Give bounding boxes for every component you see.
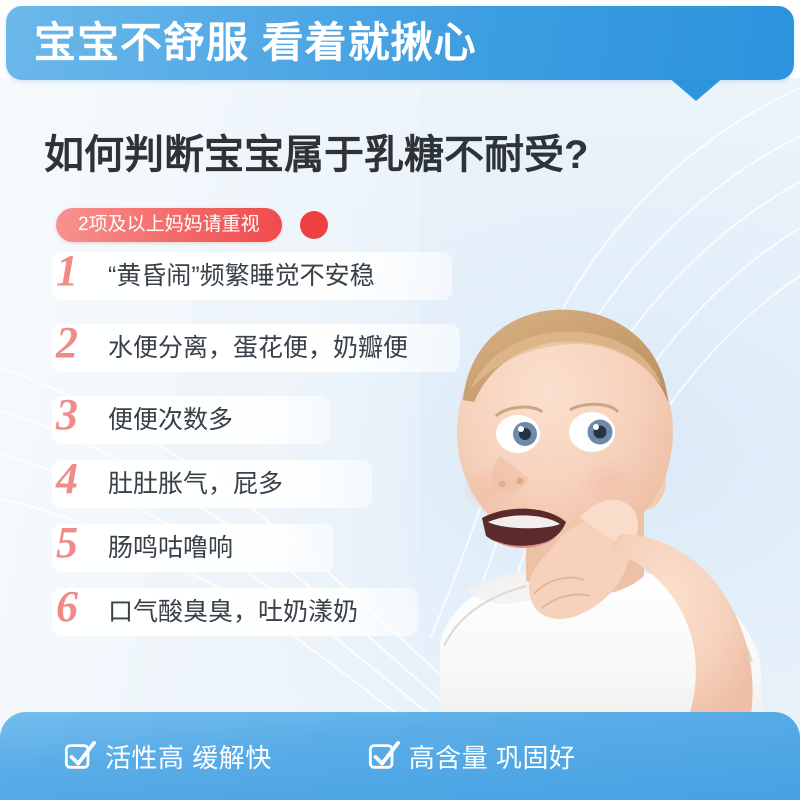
badge-row: 2项及以上妈妈请重视: [56, 208, 328, 242]
list-item-label: 便便次数多: [108, 396, 233, 444]
footer-feature-label: 活性高 缓解快: [105, 738, 272, 775]
list-item-number: 6: [56, 582, 78, 632]
header-banner-title: 宝宝不舒服 看着就揪心: [34, 14, 734, 72]
list-item-number: 5: [56, 518, 78, 568]
list-item-number: 2: [56, 318, 78, 368]
list-item-label: 肚肚胀气，屁多: [108, 460, 283, 508]
red-dot-icon: [300, 211, 328, 239]
footer-feature-label: 高含量 巩固好: [409, 738, 576, 775]
banner-pointer: [668, 77, 724, 101]
list-item-number: 1: [56, 246, 78, 296]
list-item-number: 4: [56, 454, 78, 504]
status-badge: 2项及以上妈妈请重视: [56, 208, 282, 242]
poster-root: 宝宝不舒服 看着就揪心 如何判断宝宝属于乳糖不耐受? 2项及以上妈妈请重视: [0, 0, 800, 800]
checkbox-checked-icon: [368, 740, 400, 772]
list-item-label: “黄昏闹”频繁睡觉不安稳: [108, 252, 375, 300]
list-item-label: 水便分离，蛋花便，奶瓣便: [108, 324, 408, 372]
list-item-label: 口气酸臭臭，吐奶漾奶: [108, 588, 358, 636]
list-item-label: 肠鸣咕噜响: [108, 524, 233, 572]
footer-feature-1: 活性高 缓解快: [64, 738, 272, 775]
page-title: 如何判断宝宝属于乳糖不耐受?: [44, 128, 588, 182]
list-item-number: 3: [56, 390, 78, 440]
checkbox-checked-icon: [64, 740, 96, 772]
footer-bar: 活性高 缓解快 高含量 巩固好: [0, 712, 800, 800]
footer-feature-2: 高含量 巩固好: [368, 738, 576, 775]
